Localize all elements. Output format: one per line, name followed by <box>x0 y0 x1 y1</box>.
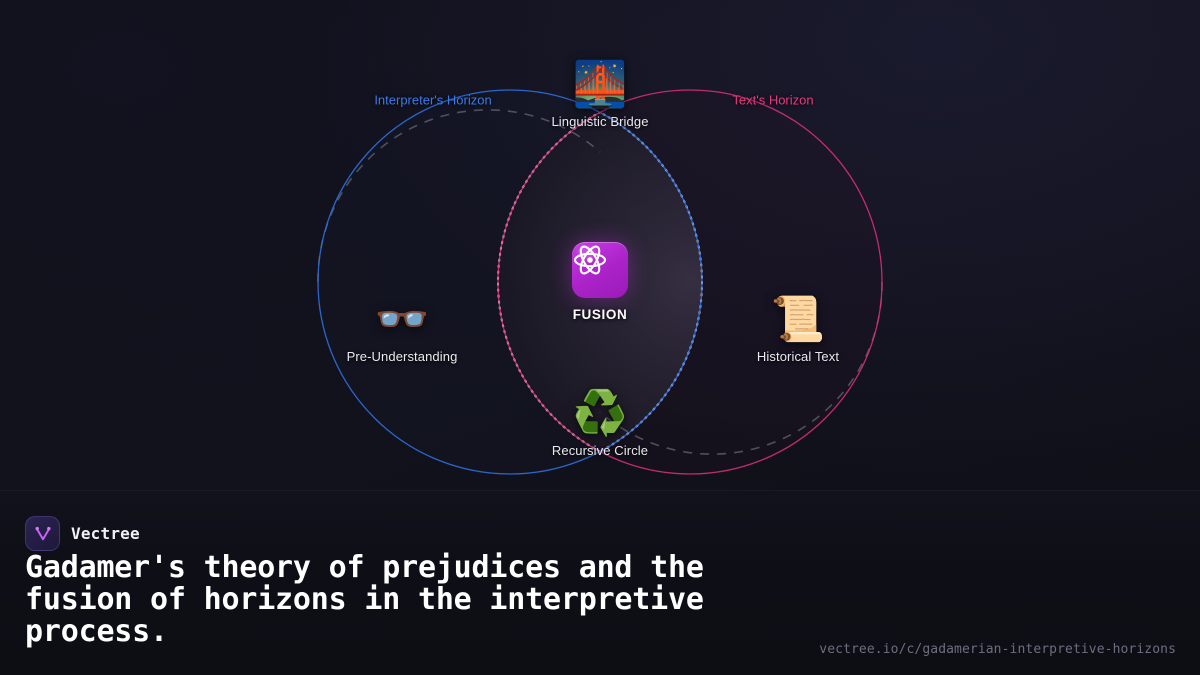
node-recursive-circle[interactable]: ♻️ Recursive Circle <box>552 392 648 458</box>
recycle-icon: ♻️ <box>573 392 628 436</box>
node-label: Recursive Circle <box>552 443 648 458</box>
right-horizon-label: Text's Horizon <box>732 93 813 108</box>
brand-name: Vectree <box>71 524 140 543</box>
glasses-icon: 👓 <box>375 298 430 342</box>
source-url: vectree.io/c/gadamerian-interpretive-hor… <box>819 642 1176 657</box>
atom-icon <box>572 242 628 298</box>
fusion-label: FUSION <box>573 307 628 322</box>
footer-bar: Vectree Gadamer's theory of prejudices a… <box>0 490 1200 675</box>
left-horizon-label: Interpreter's Horizon <box>374 93 491 108</box>
node-label: Historical Text <box>757 349 839 364</box>
node-pre-understanding[interactable]: 👓 Pre-Understanding <box>347 298 458 364</box>
node-linguistic-bridge[interactable]: 🌉 Linguistic Bridge <box>551 63 648 129</box>
horizons-diagram: Interpreter's Horizon Text's Horizon 🌉 L… <box>0 0 1200 490</box>
node-label: Pre-Understanding <box>347 349 458 364</box>
headline-text: Gadamer's theory of prejudices and the f… <box>25 552 785 648</box>
scroll-icon: 📜 <box>771 298 826 342</box>
node-historical-text[interactable]: 📜 Historical Text <box>757 298 839 364</box>
bridge-at-night-icon: 🌉 <box>573 63 628 107</box>
fusion-node[interactable]: FUSION <box>572 242 628 322</box>
screenshot-canvas: Interpreter's Horizon Text's Horizon 🌉 L… <box>0 0 1200 675</box>
vectree-logo-icon <box>25 516 60 551</box>
node-label: Linguistic Bridge <box>551 114 648 129</box>
brand-block[interactable]: Vectree <box>25 516 140 551</box>
